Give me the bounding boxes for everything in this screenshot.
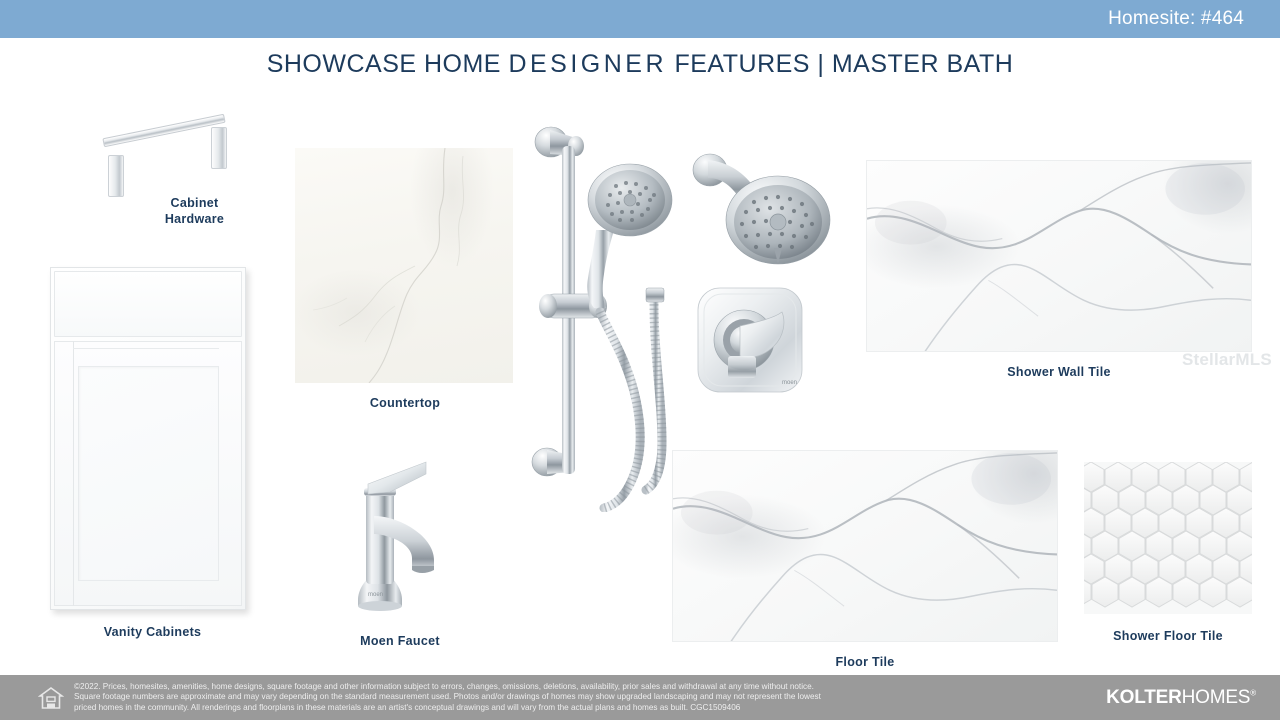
shower-wall-tile-image bbox=[866, 160, 1252, 352]
cabinet-drawer-front bbox=[54, 271, 242, 337]
shower-floor-tile-label: Shower Floor Tile bbox=[1082, 628, 1254, 644]
product-countertop: Countertop bbox=[295, 148, 515, 411]
footer-bar: ©2022. Prices, homesites, amenities, hom… bbox=[0, 675, 1280, 720]
pull-foot-right bbox=[211, 127, 227, 169]
pull-bar bbox=[102, 114, 225, 148]
product-floor-tile: Floor Tile bbox=[672, 450, 1058, 670]
floor-tile-image bbox=[672, 450, 1058, 642]
page-title-part1: SHOWCASE HOME bbox=[267, 50, 509, 78]
cabinet-rail bbox=[73, 348, 219, 349]
hex-tile-pattern bbox=[1084, 462, 1252, 614]
vanity-cabinets-label: Vanity Cabinets bbox=[50, 624, 255, 640]
page-title-part2: DESIGNER bbox=[508, 50, 667, 78]
product-vanity-cabinets: Vanity Cabinets bbox=[50, 267, 255, 640]
footer-line-1: ©2022. Prices, homesites, amenities, hom… bbox=[74, 682, 821, 692]
floor-tile-veining bbox=[673, 451, 1057, 642]
logo-kolter: KOLTER bbox=[1106, 687, 1182, 708]
vanity-cabinet-image bbox=[50, 267, 246, 610]
logo-trademark: ® bbox=[1250, 688, 1256, 697]
equal-housing-opportunity-icon bbox=[38, 685, 64, 711]
handheld-shower-image bbox=[520, 112, 680, 512]
product-shower-wall-tile: Shower Wall Tile bbox=[866, 160, 1252, 380]
cabinet-hardware-label: Cabinet Hardware bbox=[62, 195, 327, 227]
product-shower-floor-tile: Shower Floor Tile bbox=[1082, 462, 1254, 644]
countertop-swatch-image bbox=[295, 148, 513, 383]
product-cabinet-hardware: Cabinet Hardware bbox=[62, 112, 327, 227]
product-handheld-shower bbox=[520, 112, 680, 512]
product-shower-head-and-valve: moen bbox=[682, 140, 847, 400]
page-title-part3: FEATURES | MASTER BATH bbox=[667, 50, 1013, 78]
homesite-number: Homesite: #464 bbox=[1108, 8, 1280, 30]
floor-tile-label: Floor Tile bbox=[672, 654, 1058, 670]
cabinet-pull-image bbox=[84, 112, 264, 187]
cabinet-hardware-label-line2: Hardware bbox=[62, 211, 327, 227]
logo-homes: HOMES bbox=[1182, 687, 1251, 708]
countertop-label: Countertop bbox=[295, 395, 515, 411]
moen-faucet-image: moen bbox=[330, 450, 470, 625]
cabinet-hardware-label-line1: Cabinet bbox=[62, 195, 327, 211]
cabinet-stile bbox=[73, 341, 74, 606]
svg-text:moen: moen bbox=[368, 592, 383, 598]
page-title: SHOWCASE HOME DESIGNER FEATURES | MASTER… bbox=[0, 50, 1280, 79]
wall-tile-veining bbox=[867, 161, 1251, 352]
cabinet-recessed-panel bbox=[78, 366, 219, 581]
product-moen-faucet: moen Moen Faucet bbox=[330, 450, 470, 649]
footer-disclaimer: ©2022. Prices, homesites, amenities, hom… bbox=[74, 682, 821, 713]
shower-head-image: moen bbox=[682, 140, 847, 400]
pull-foot-left bbox=[108, 155, 124, 197]
countertop-veining bbox=[295, 148, 513, 383]
header-bar: Homesite: #464 bbox=[0, 0, 1280, 38]
svg-text:moen: moen bbox=[782, 380, 797, 386]
stellar-mls-watermark: StellarMLS bbox=[1182, 350, 1272, 370]
hex-mosaic-image bbox=[1084, 462, 1252, 614]
kolter-homes-logo: KOLTERHOMES® bbox=[1106, 687, 1256, 709]
footer-line-3: priced homes in the community. All rende… bbox=[74, 703, 821, 713]
footer-line-2: Square footage numbers are approximate a… bbox=[74, 692, 821, 702]
moen-faucet-label: Moen Faucet bbox=[300, 633, 500, 649]
